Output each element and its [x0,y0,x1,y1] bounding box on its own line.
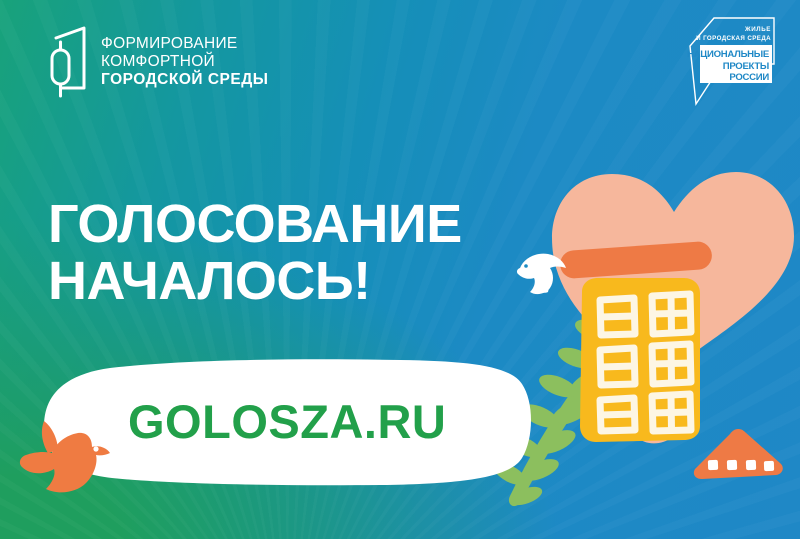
fkgs-line-3: ГОРОДСКОЙ СРЕДЫ [101,71,268,89]
np-badge-line-1: НАЦИОНАЛЬНЫЕ [687,49,770,60]
np-top-line-1: ЖИЛЬЕ [744,26,771,33]
page-title: ГОЛОСОВАНИЕ НАЧАЛОСЬ! [48,196,462,310]
white-dove [514,248,570,300]
fkgs-line-2: КОМФОРТНОЙ [101,53,268,71]
orange-roof-bar [558,240,714,282]
url-text[interactable]: GOLOSZA.RU [128,383,508,459]
fkgs-logo-text: ФОРМИРОВАНИЕ КОМФОРТНОЙ ГОРОДСКОЙ СРЕДЫ [101,35,268,89]
np-badge-line-3: РОССИИ [729,72,769,83]
np-top-line-2: И ГОРОДСКАЯ СРЕДА [696,35,771,42]
yellow-apartment-building [572,278,702,442]
fkgs-logo: ФОРМИРОВАНИЕ КОМФОРТНОЙ ГОРОДСКОЙ СРЕДЫ [48,26,268,98]
national-projects-logo: ЖИЛЬЕ И ГОРОДСКАЯ СРЕДА НАЦИОНАЛЬНЫЕ ПРО… [678,12,778,108]
orange-bird [18,413,128,503]
np-badge-line-2: ПРОЕКТЫ [723,61,769,72]
fkgs-line-1: ФОРМИРОВАНИЕ [101,35,268,53]
house-outline-icon [48,26,88,98]
small-orange-house [690,427,786,487]
poster-root: GOLOSZA.RU ГОЛОСОВАНИЕ НАЧАЛОСЬ! ФОРМИРО… [0,0,800,539]
